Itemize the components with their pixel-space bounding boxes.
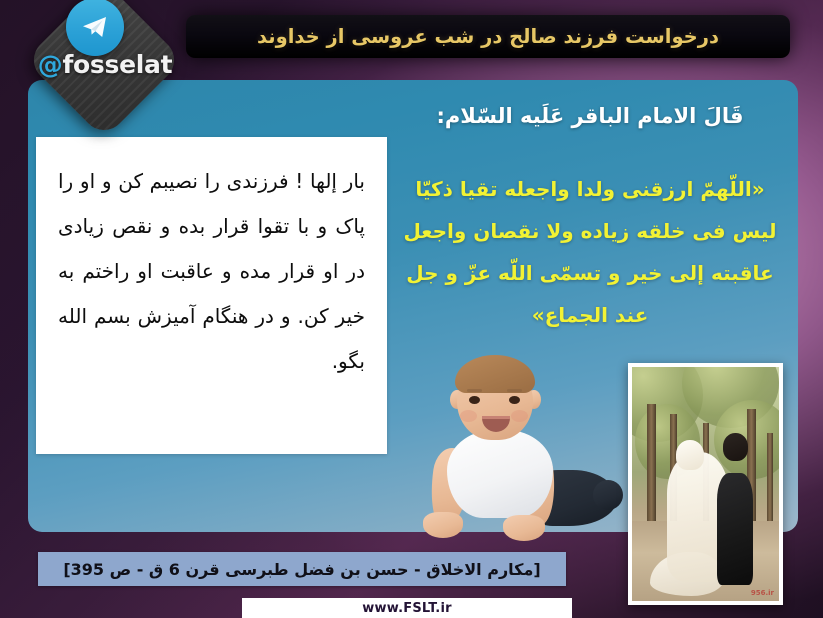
baby-left-hand bbox=[423, 512, 463, 538]
photo-watermark: 956.ir bbox=[751, 589, 774, 597]
baby-hair bbox=[455, 355, 535, 393]
badge-handle: @fosselat bbox=[30, 50, 180, 79]
wedding-photo-inner: 956.ir bbox=[632, 367, 779, 601]
baby-left-eyebrow bbox=[467, 389, 482, 392]
website-url-bar[interactable]: www.FSLT.ir bbox=[242, 598, 572, 618]
wedding-couple-photo: 956.ir bbox=[628, 363, 783, 605]
persian-translation-text: بار إلها ! فرزندی را نصیبم کن و او را پا… bbox=[36, 137, 387, 384]
at-symbol: @ bbox=[38, 50, 63, 79]
baby-shirt bbox=[447, 430, 553, 518]
website-url-text: www.FSLT.ir bbox=[362, 601, 451, 616]
poster-title: درخواست فرزند صالح در شب عروسی از خداوند bbox=[257, 25, 719, 48]
telegram-channel-badge[interactable]: @fosselat bbox=[30, 0, 180, 140]
translation-box: بار إلها ! فرزندی را نصیبم کن و او را پا… bbox=[36, 137, 387, 454]
source-citation-text: [مکارم الاخلاق - حسن بن فضل طبرسی قرن 6 … bbox=[63, 560, 540, 579]
baby-left-eye bbox=[469, 396, 480, 404]
channel-name: fosselat bbox=[62, 50, 172, 79]
baby-foot bbox=[593, 480, 623, 510]
bride-head bbox=[676, 440, 704, 470]
groom-suit bbox=[717, 473, 753, 585]
crawling-baby-photo bbox=[405, 352, 620, 552]
baby-left-cheek bbox=[460, 410, 477, 422]
source-citation-bar: [مکارم الاخلاق - حسن بن فضل طبرسی قرن 6 … bbox=[38, 552, 566, 586]
baby-right-cheek bbox=[511, 410, 528, 422]
telegram-icon[interactable] bbox=[66, 0, 124, 56]
tree-trunk bbox=[647, 404, 656, 540]
baby-right-hand bbox=[503, 515, 545, 541]
title-bar: درخواست فرزند صالح در شب عروسی از خداوند bbox=[186, 15, 790, 58]
baby-right-eye bbox=[509, 396, 520, 404]
narration-attribution: قَالَ الامام الباقر عَلَيه السّلام: bbox=[400, 104, 780, 128]
baby-right-eyebrow bbox=[507, 389, 522, 392]
groom-head bbox=[723, 433, 748, 461]
arabic-hadith-quote: «اللّهمّ ارزقنی ولدا واجعله تقیا ذکیّا ل… bbox=[398, 168, 782, 336]
poster-canvas: @fosselat درخواست فرزند صالح در شب عروسی… bbox=[0, 0, 823, 618]
